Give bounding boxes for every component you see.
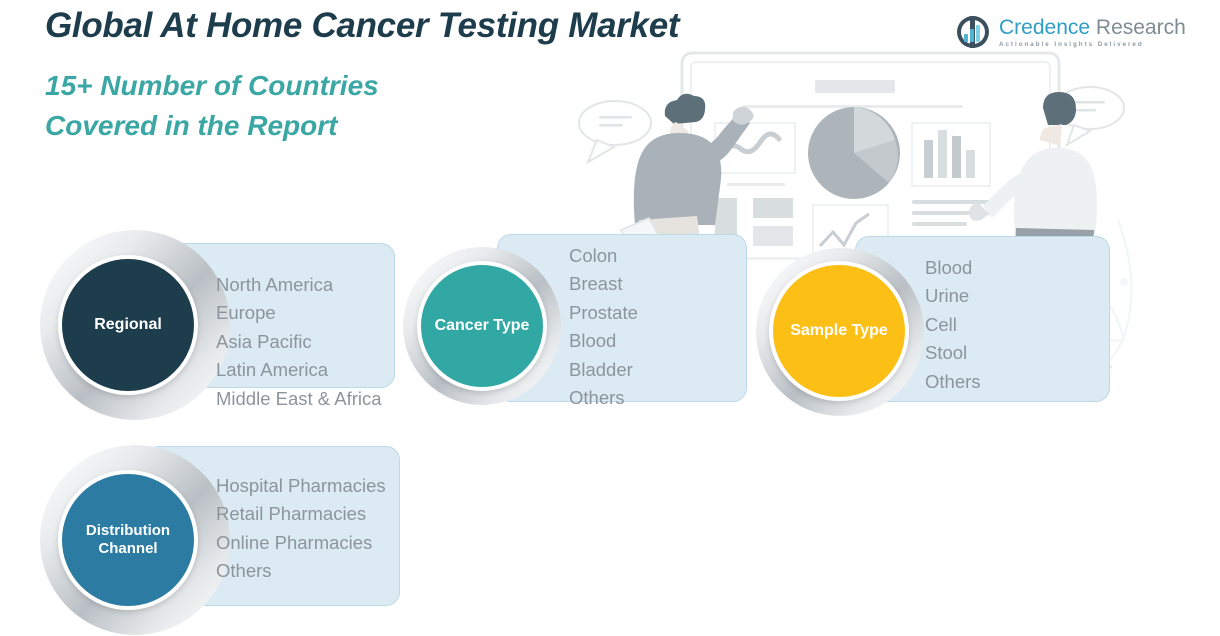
list-item: Cell <box>925 311 981 339</box>
bubble-label-cancer-type: Cancer Type <box>435 316 530 335</box>
bubble-label-line-1: Distribution <box>86 522 170 539</box>
list-item: Stool <box>925 339 981 367</box>
bubble-label-distribution-channel: Distribution Channel <box>86 522 170 558</box>
list-item: Middle East & Africa <box>216 385 382 413</box>
logo-wordmark: Credence Research <box>999 17 1186 38</box>
bubble-distribution-channel[interactable]: Distribution Channel <box>58 470 198 610</box>
bubble-regional[interactable]: Regional <box>58 255 198 395</box>
list-item: Online Pharmacies <box>216 529 386 557</box>
bubble-label-regional: Regional <box>94 315 162 334</box>
list-item: Others <box>216 557 386 585</box>
subtitle-line-2: Covered in the Report <box>45 106 379 146</box>
logo-tagline: Actionable Insights Delivered <box>999 41 1186 48</box>
list-distribution-channel: Hospital Pharmacies Retail Pharmacies On… <box>216 472 386 586</box>
logo-word-research: Research <box>1096 16 1186 39</box>
list-item: Blood <box>569 327 638 355</box>
bar-chart-circle-icon <box>955 14 991 50</box>
list-item: North America <box>216 271 382 299</box>
list-item: Retail Pharmacies <box>216 500 386 528</box>
bubble-sample-type[interactable]: Sample Type <box>769 261 909 401</box>
list-item: Bladder <box>569 356 638 384</box>
list-cancer-type: Colon Breast Prostate Blood Bladder Othe… <box>569 242 638 413</box>
infographic-canvas: Global At Home Cancer Testing Market 15+… <box>0 0 1220 636</box>
list-regional: North America Europe Asia Pacific Latin … <box>216 271 382 413</box>
list-item: Urine <box>925 282 981 310</box>
bubble-label-line-2: Channel <box>98 540 157 557</box>
list-item: Europe <box>216 299 382 327</box>
list-item: Hospital Pharmacies <box>216 472 386 500</box>
list-item: Asia Pacific <box>216 328 382 356</box>
bubble-label-sample-type: Sample Type <box>790 321 888 340</box>
brand-logo[interactable]: Credence Research Actionable Insights De… <box>955 10 1175 54</box>
list-item: Others <box>569 384 638 412</box>
list-sample-type: Blood Urine Cell Stool Others <box>925 254 981 396</box>
page-title: Global At Home Cancer Testing Market <box>45 6 679 46</box>
list-item: Blood <box>925 254 981 282</box>
subtitle-line-1: 15+ Number of Countries <box>45 66 379 106</box>
logo-text: Credence Research Actionable Insights De… <box>999 17 1186 48</box>
bubble-cancer-type[interactable]: Cancer Type <box>417 261 547 391</box>
list-item: Breast <box>569 270 638 298</box>
logo-word-credence: Credence <box>999 16 1090 39</box>
list-item: Others <box>925 368 981 396</box>
list-item: Colon <box>569 242 638 270</box>
page-subtitle: 15+ Number of Countries Covered in the R… <box>45 66 379 146</box>
list-item: Latin America <box>216 356 382 384</box>
list-item: Prostate <box>569 299 638 327</box>
